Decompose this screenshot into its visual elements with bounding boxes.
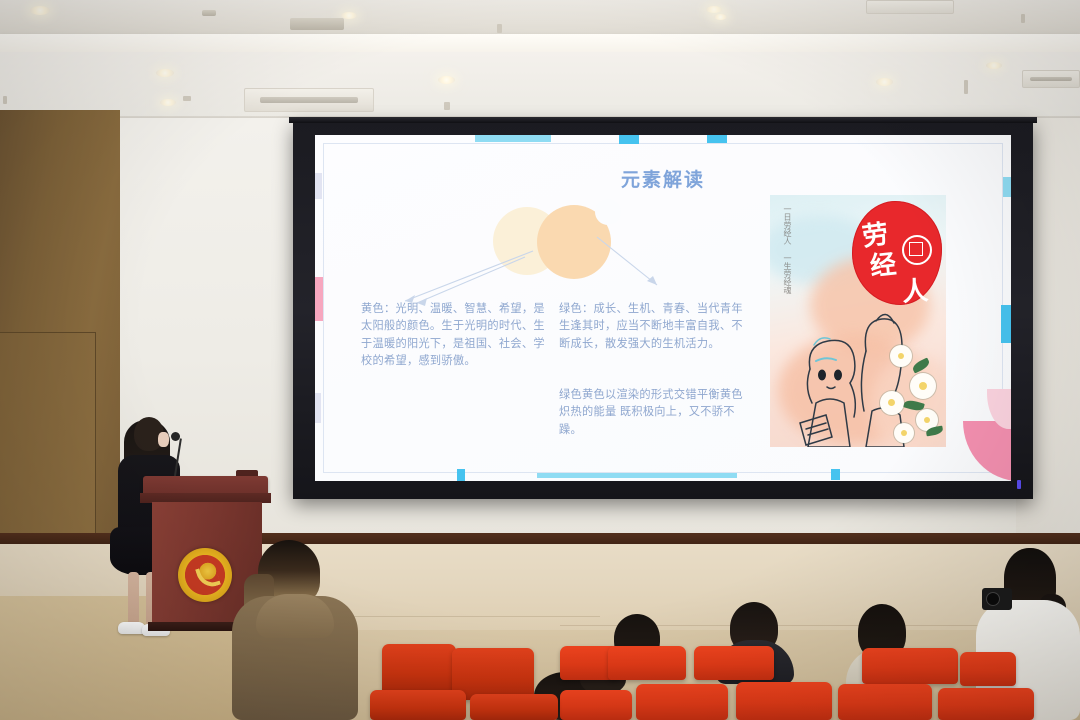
downlight-icon [30, 6, 50, 15]
slide-text-balance: 绿色黄色以渲染的形式交错平衡黄色炽热的能量 既积极向上，又不骄不躁。 [559, 387, 749, 439]
downlight-icon [876, 78, 893, 86]
seat[interactable] [636, 684, 728, 720]
red-seal-stamp: 劳 经 人 [852, 201, 942, 305]
ceiling-sensor-icon [183, 96, 191, 101]
seal-school-emblem-icon [902, 235, 932, 265]
air-vent [866, 0, 954, 14]
vent-slot [1030, 77, 1073, 81]
downlight-icon [156, 69, 174, 77]
seat[interactable] [838, 684, 932, 720]
projection-screen[interactable]: 元素解读 黄色：光明、温暖、智慧、希望，是太阳般的颜色。生于光明的时代、生于温暖… [293, 121, 1033, 499]
ceiling-lower [0, 52, 1080, 118]
flower-core [919, 382, 927, 390]
deco-accent-top-2 [707, 135, 727, 143]
downlight-icon [438, 76, 455, 84]
deco-accent-top-1 [619, 135, 639, 144]
slide-text-yellow: 黄色：光明、温暖、智慧、希望，是太阳般的颜色。生于光明的时代、生于温暖的阳光下，… [361, 301, 546, 370]
seat[interactable] [608, 646, 686, 680]
ceiling-soffit [0, 34, 1080, 54]
deco-accent-bottom-wide [537, 473, 737, 478]
presenter-leg-left [128, 572, 139, 626]
ceiling-sensor-icon [3, 96, 7, 104]
microphone-icon [171, 432, 180, 441]
flower-core [898, 353, 904, 359]
seat[interactable] [694, 646, 774, 680]
flower-icon [910, 373, 936, 399]
seal-char-3: 人 [901, 270, 930, 309]
flower-icon [890, 345, 912, 367]
deco-accent-bottom-2 [831, 469, 840, 480]
downlight-icon [714, 14, 727, 20]
wood-wall-panel-left [0, 110, 120, 544]
camera-lens-icon [986, 592, 1000, 606]
flower-core [924, 417, 930, 423]
poster-illustration: 一日劳经人 一生劳经魂 劳 经 人 [770, 195, 946, 447]
seat[interactable] [960, 652, 1016, 686]
seat[interactable] [470, 694, 558, 720]
seat[interactable] [370, 690, 466, 720]
ceiling-sensor-icon [497, 24, 502, 33]
slide-text-green: 绿色：成长、生机、青春、当代青年生逢其时，应当不断地丰富自我、不断成长，散发强大… [559, 301, 749, 353]
seat[interactable] [560, 690, 632, 720]
slide-canvas: 元素解读 黄色：光明、温暖、智慧、希望，是太阳般的颜色。生于光明的时代、生于温暖… [315, 135, 1011, 481]
downlight-icon [986, 62, 1002, 69]
flower-core [888, 399, 895, 406]
flower-icon [894, 423, 914, 443]
seal-char-2: 经 [868, 244, 898, 284]
school-crest-icon [178, 548, 232, 602]
ceiling-sensor-icon [1021, 14, 1025, 23]
poster-vertical-caption: 一日劳经人 一生劳经魂 [778, 205, 792, 294]
deco-accent-left-bottom [315, 393, 321, 423]
attendee-hood [256, 594, 334, 638]
deco-accent-right-mid [1001, 305, 1011, 343]
deco-accent-top-wide [475, 135, 551, 142]
deco-accent-left-pink [315, 277, 323, 321]
air-vent [244, 88, 374, 112]
slide-title: 元素解读 [315, 165, 1011, 192]
downlight-icon [160, 99, 176, 106]
vent-slot [260, 97, 357, 102]
projector-mount [290, 18, 344, 30]
seat[interactable] [938, 688, 1034, 720]
ceiling-track-light-icon [964, 80, 968, 94]
screen-status-led [1017, 480, 1021, 489]
seat[interactable] [736, 682, 832, 720]
seat[interactable] [862, 648, 958, 684]
circle-notch [595, 199, 621, 225]
flower-core [901, 430, 907, 436]
auditorium-scene: 元素解读 黄色：光明、温暖、智慧、希望，是太阳般的颜色。生于光明的时代、生于温暖… [0, 0, 1080, 720]
presenter-face [158, 432, 169, 447]
arrow-to-green-text [591, 231, 701, 297]
flower-icon [880, 391, 904, 415]
projector-mount [202, 10, 216, 16]
downlight-icon [706, 6, 722, 13]
air-vent [1022, 70, 1080, 88]
deco-accent-bottom-1 [457, 469, 465, 481]
ceiling-sensor-icon [444, 102, 450, 110]
seat[interactable] [382, 644, 456, 694]
